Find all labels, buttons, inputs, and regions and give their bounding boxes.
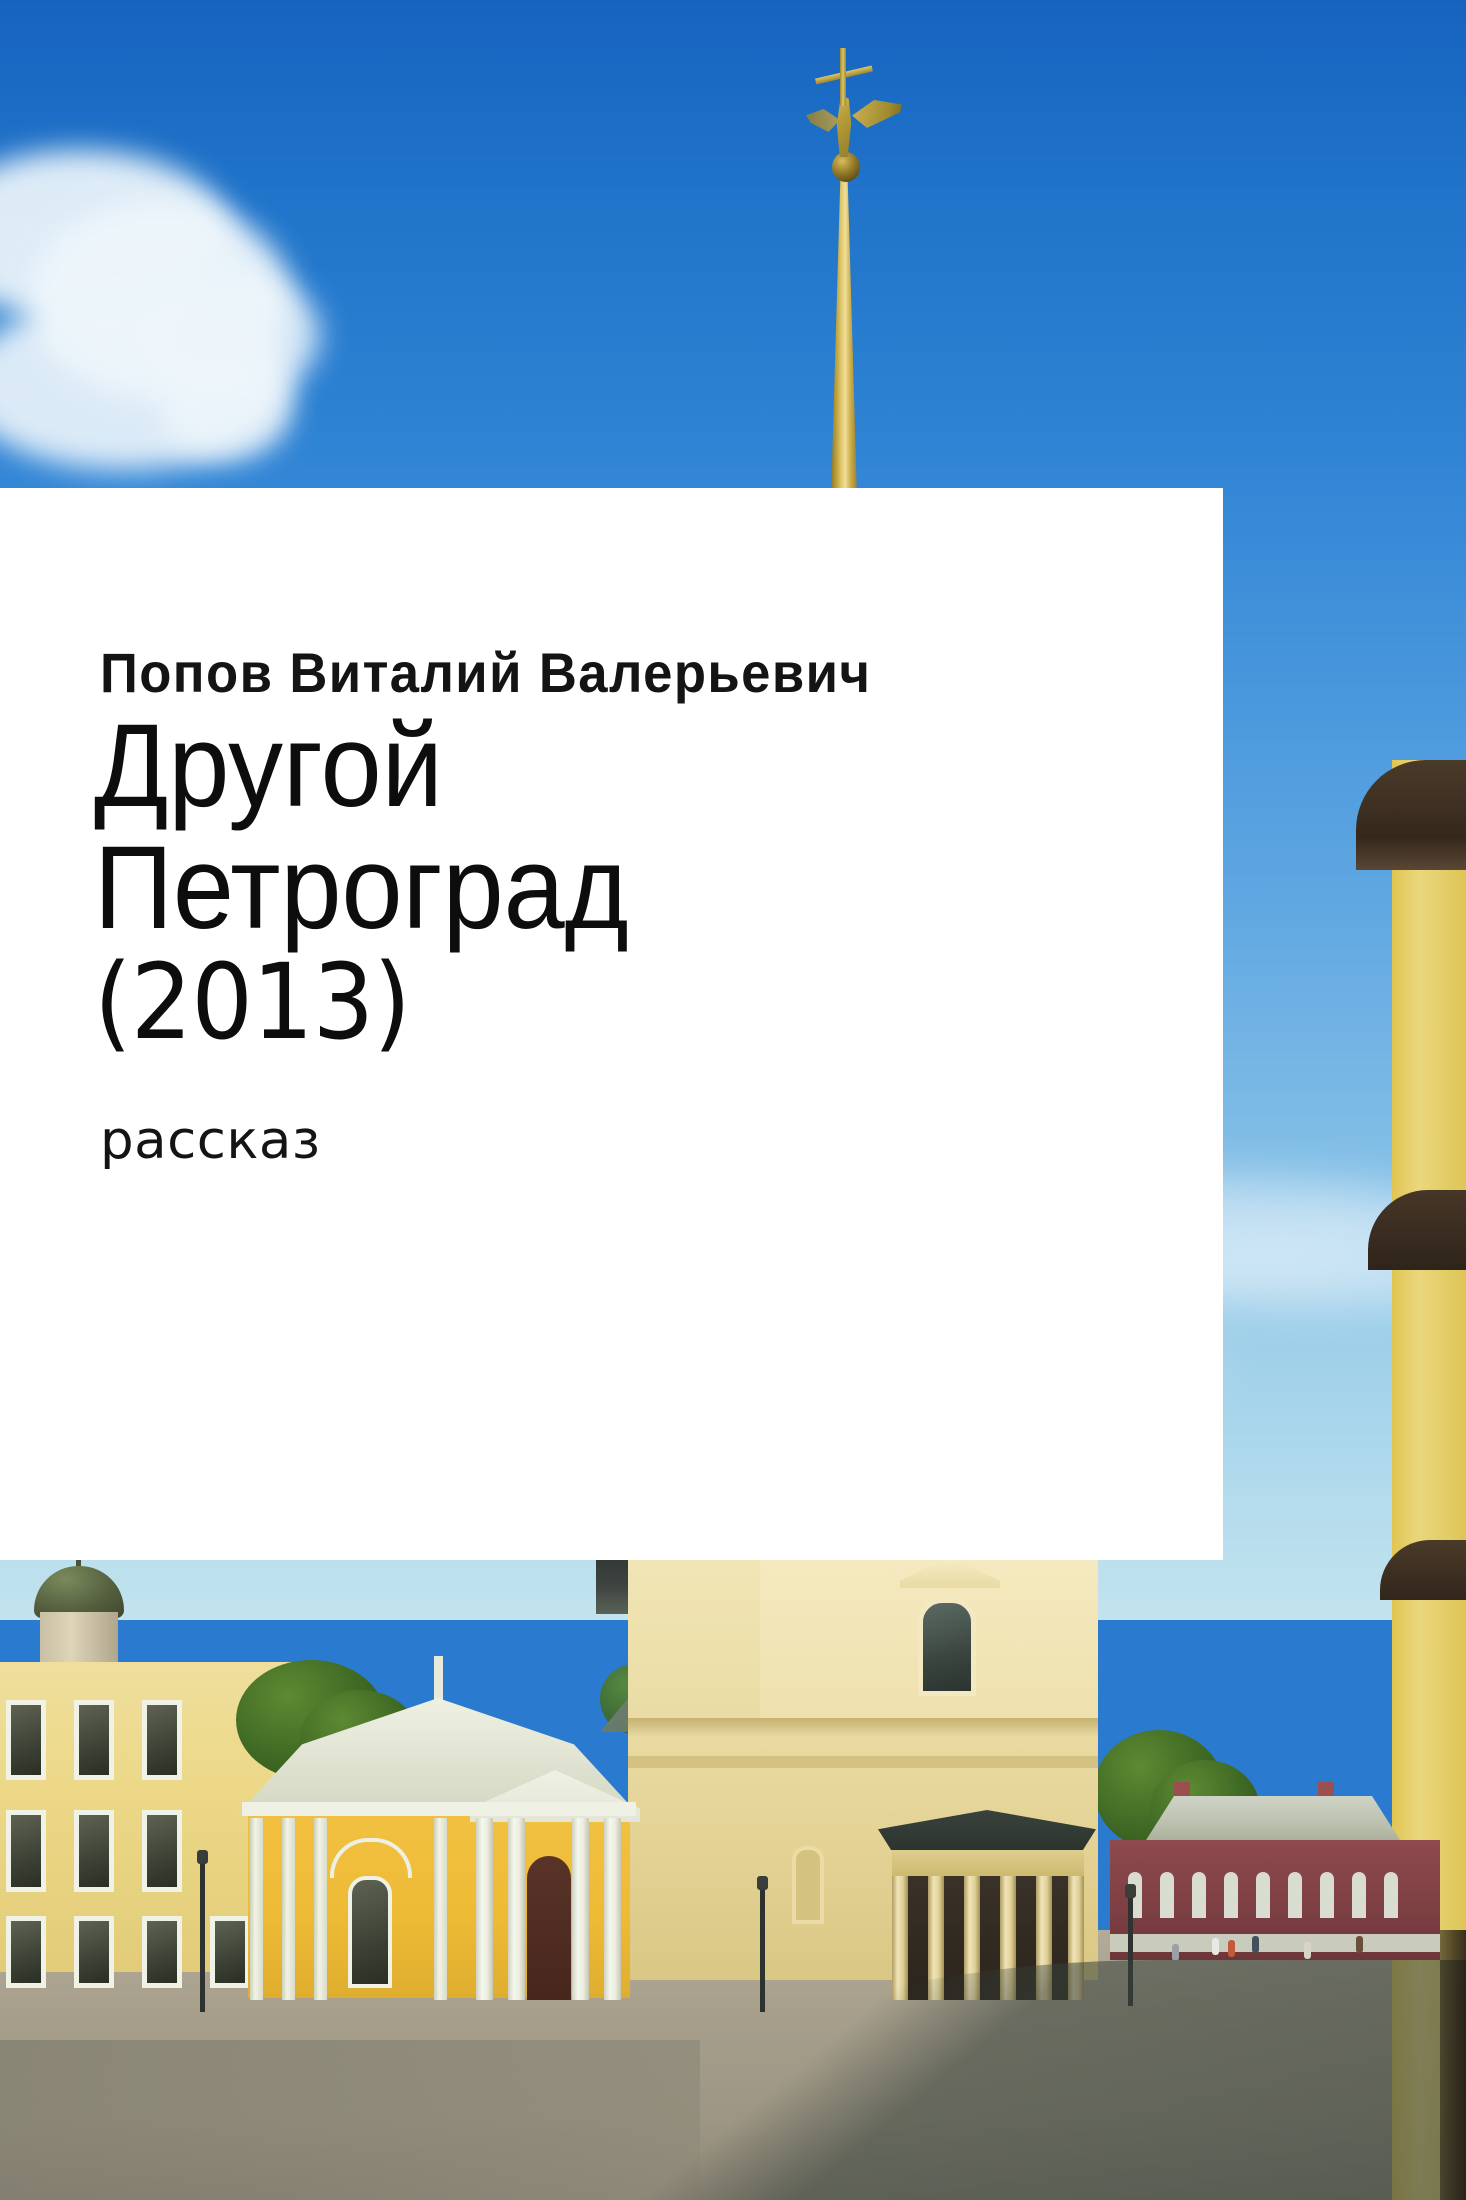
palace-window	[74, 1700, 114, 1780]
mint-window	[1352, 1872, 1366, 1918]
lamp-head-icon	[1125, 1884, 1136, 1898]
title-panel-content: Попов Виталий Валерьевич Другой Петрогра…	[100, 488, 1223, 1560]
lamp-post	[760, 1888, 765, 2012]
palace-window	[74, 1810, 114, 1892]
person-figure	[1212, 1938, 1219, 1955]
author-name: Попов Виталий Валерьевич	[100, 640, 871, 705]
mint-base	[1110, 1934, 1440, 1952]
mint-window	[1192, 1872, 1206, 1918]
palace-window	[6, 1700, 46, 1780]
person-figure	[1356, 1936, 1363, 1953]
person-figure	[1252, 1936, 1259, 1953]
pavilion-column	[508, 1818, 525, 2000]
person-figure	[1304, 1942, 1311, 1959]
pavilion-pilaster	[282, 1818, 295, 2000]
title-line-1: Другой	[94, 706, 629, 828]
portico-column	[892, 1876, 908, 2000]
mint-window	[1320, 1872, 1334, 1918]
palace-window	[142, 1916, 182, 1988]
cathedral-niche-window	[792, 1846, 824, 1924]
pavilion-pilaster	[314, 1818, 327, 2000]
spire-shaft	[831, 178, 857, 498]
angel-wing-right-icon	[852, 100, 902, 128]
lamp-post	[200, 1862, 205, 2012]
person-figure	[1172, 1944, 1179, 1961]
page-title: Другой Петроград (2013)	[94, 706, 629, 1056]
mint-window	[1288, 1872, 1302, 1918]
palace-window	[142, 1700, 182, 1780]
title-line-2: Петроград	[94, 828, 629, 950]
pavilion-door	[527, 1856, 571, 2000]
palace-window	[142, 1810, 182, 1892]
angel-wing-left-icon	[806, 108, 840, 132]
pavilion-cornice	[242, 1802, 636, 1816]
palace-window	[6, 1810, 46, 1892]
right-edge-shadow	[1440, 1930, 1466, 2200]
lamp-head-icon	[757, 1876, 768, 1890]
mint-window	[1224, 1872, 1238, 1918]
cathedral-spire	[0, 0, 1466, 500]
pavilion-window	[348, 1876, 392, 1988]
palace-window	[210, 1916, 250, 1988]
palace-window	[74, 1916, 114, 1988]
pavilion-pilaster	[250, 1818, 263, 2000]
title-panel: Попов Виталий Валерьевич Другой Петрогра…	[0, 488, 1223, 1560]
book-cover: Попов Виталий Валерьевич Другой Петрогра…	[0, 0, 1466, 2200]
person-figure	[1228, 1940, 1235, 1957]
lamp-head-icon	[197, 1850, 208, 1864]
mint-window	[1384, 1872, 1398, 1918]
mint-window	[1160, 1872, 1174, 1918]
pavilion-column	[572, 1818, 589, 2000]
palace-window	[6, 1916, 46, 1988]
pavilion-pilaster	[434, 1818, 447, 2000]
plaza-shadow	[0, 2040, 700, 2200]
pavilion-column	[604, 1818, 621, 2000]
title-year: (2013)	[94, 949, 629, 1056]
mint-window	[1256, 1872, 1270, 1918]
genre-subtitle: рассказ	[100, 1110, 321, 1171]
pavilion-column	[476, 1818, 493, 2000]
cathedral-cornice	[628, 1756, 1098, 1768]
cross-vertical-icon	[840, 48, 846, 106]
cathedral-cornice	[628, 1718, 1098, 1738]
cathedral-arched-window	[918, 1598, 976, 1696]
pavilion-finial	[434, 1656, 443, 1702]
